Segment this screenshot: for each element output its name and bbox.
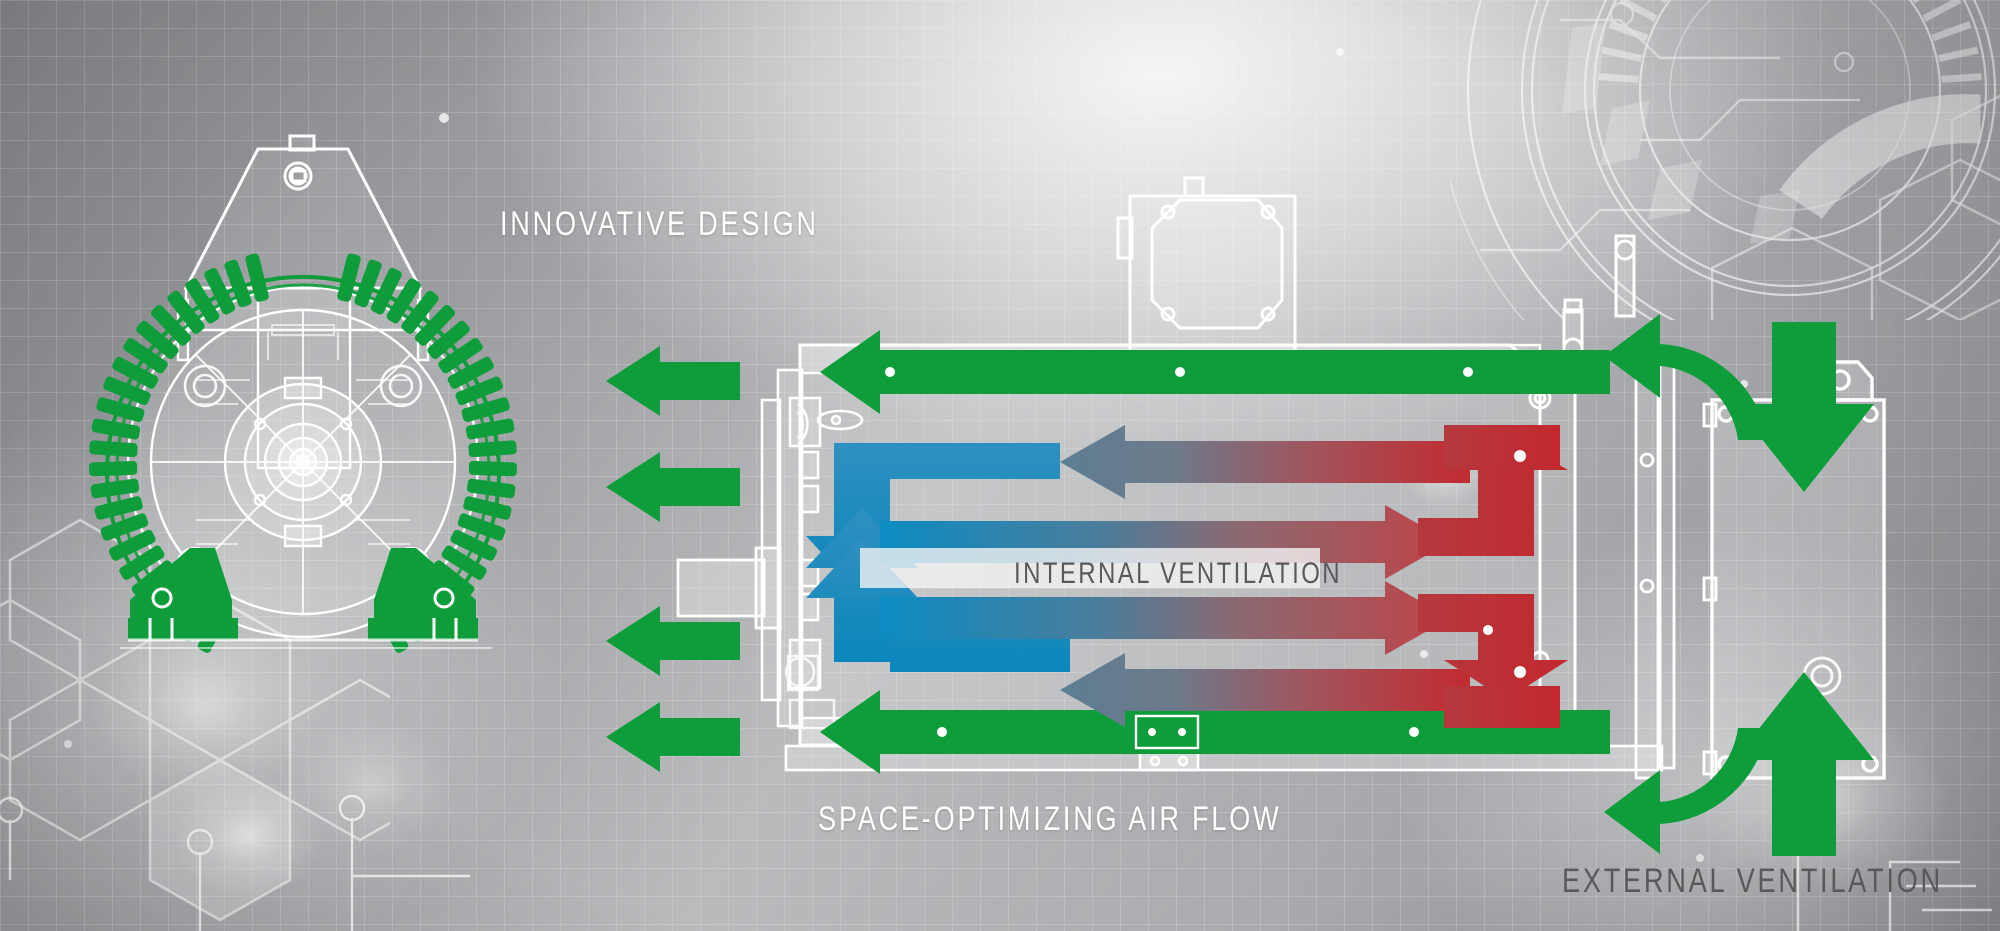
label-innovative-design: INNOVATIVE DESIGN xyxy=(500,205,819,244)
external-ventilation-arrows xyxy=(0,0,2000,931)
label-external-ventilation: EXTERNAL VENTILATION xyxy=(1562,862,1943,901)
diagram-canvas: INNOVATIVE DESIGN SPACE-OPTIMIZING AIR F… xyxy=(0,0,2000,931)
external-deflect-upper-left xyxy=(1604,314,1768,440)
external-deflect-lower-left xyxy=(1604,728,1768,854)
label-space-optimizing-air-flow: SPACE-OPTIMIZING AIR FLOW xyxy=(818,800,1281,839)
label-internal-ventilation: INTERNAL VENTILATION xyxy=(1014,557,1342,591)
